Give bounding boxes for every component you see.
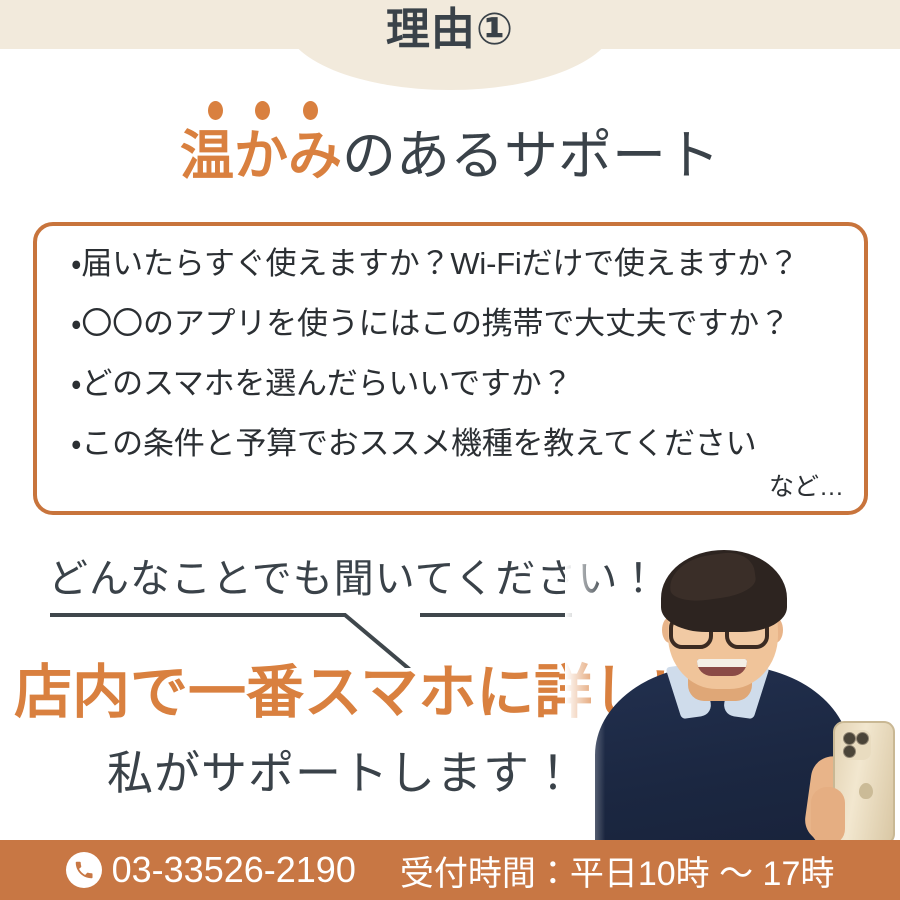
headline-accent: 温かみ [180,126,342,186]
camera-lens-icon-1 [843,732,856,745]
dot-icon-3 [303,101,318,120]
headline-rest: のあるサポート [342,126,720,186]
staff-photo [565,525,900,840]
promo-poster: 理由① 温かみのあるサポート ・届いたらすぐ使えますか？Wi-Fiだけで使えます… [0,0,900,900]
teeth-shape [697,659,747,667]
camera-lens-icon-2 [856,732,869,745]
speech-bubble-tail [40,598,600,668]
business-hours: 受付時間：平日10時 〜 17時 [400,846,835,895]
camera-module [841,730,871,760]
etc-note: など… [769,467,844,503]
camera-lens-icon-3 [843,745,856,758]
decorative-dots [208,101,328,123]
question-list: ・届いたらすぐ使えますか？Wi-Fiだけで使えますか？ ・〇〇のアプリを使うには… [71,248,850,488]
dot-icon-2 [255,101,270,120]
contact-footer-bar: 03-33526-2190 受付時間：平日10時 〜 17時 [0,840,900,900]
list-item: ・どのスマホを選んだらいいですか？ [71,368,850,399]
list-item: ・〇〇のアプリを使うにはこの携帯で大丈夫ですか？ [71,308,850,339]
claim-line-2: 私がサポートします！ [107,750,577,796]
section-headline: 温かみのあるサポート [180,126,720,186]
phone-number[interactable]: 03-33526-2190 [112,849,356,891]
list-item: ・この条件と予算でおススメ機種を教えてください [71,428,850,459]
dot-icon-1 [208,101,223,120]
question-list-box: ・届いたらすぐ使えますか？Wi-Fiだけで使えますか？ ・〇〇のアプリを使うには… [33,222,868,515]
list-item: ・届いたらすぐ使えますか？Wi-Fiだけで使えますか？ [71,248,850,279]
apple-logo-icon [859,783,873,799]
page-title: 理由① [0,8,900,52]
hand-shape [811,787,845,840]
mouth-shape [697,659,747,676]
phone-handset-icon [66,852,102,888]
